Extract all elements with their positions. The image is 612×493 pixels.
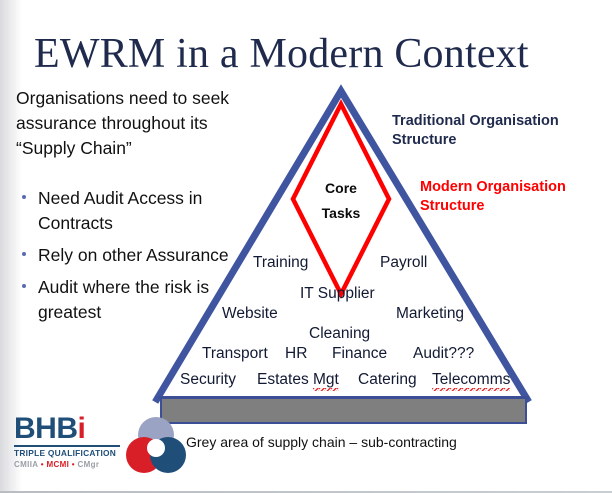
bhbi-logo: BHBi TRIPLE QUALIFICATION CMIIA • MCMI •… bbox=[14, 412, 194, 478]
legend-modern-structure: Modern Organisation Structure bbox=[420, 178, 610, 216]
diagram-label-hr: HR bbox=[285, 345, 307, 363]
diagram-label-transport: Transport bbox=[202, 345, 268, 363]
lead-paragraph: Organisations need to seek assurance thr… bbox=[16, 86, 244, 161]
bullet-dot-icon bbox=[22, 252, 26, 256]
qual-separator-2: • bbox=[72, 460, 75, 469]
diagram-label-training: Training bbox=[253, 254, 308, 272]
list-item: Audit where the risk is greatest bbox=[16, 275, 252, 325]
venn-center-hole bbox=[147, 439, 165, 457]
diagram-label-finance: Finance bbox=[332, 345, 387, 363]
diagram-label-security: Security bbox=[180, 371, 236, 389]
list-item-label: Need Audit Access in Contracts bbox=[38, 188, 202, 233]
bhbi-logo-divider bbox=[14, 445, 120, 447]
core-tasks-line-1: Core bbox=[307, 176, 375, 201]
list-item: Rely on other Assurance bbox=[16, 243, 252, 268]
slide-canvas: EWRM in a Modern Context Organisations n… bbox=[0, 0, 612, 493]
qual-cmiia: CMIIA bbox=[14, 460, 38, 469]
list-item-label: Audit where the risk is greatest bbox=[38, 277, 209, 322]
bullet-dot-icon bbox=[22, 284, 26, 288]
bhbi-logo-text: BHBi TRIPLE QUALIFICATION CMIIA • MCMI •… bbox=[14, 414, 120, 470]
diagram-label-estates: Estates bbox=[257, 371, 309, 389]
diagram-label-catering: Catering bbox=[358, 371, 417, 389]
bhbi-tagline: TRIPLE QUALIFICATION bbox=[14, 448, 120, 458]
bullet-list: Need Audit Access in Contracts Rely on o… bbox=[16, 186, 252, 332]
qual-mcmi: MCMI bbox=[46, 460, 69, 469]
grey-area-bar bbox=[160, 399, 527, 424]
bhbi-wordmark-main: BHB bbox=[14, 412, 78, 445]
bhbi-qualifications: CMIIA • MCMI • CMgr bbox=[14, 460, 120, 470]
diagram-label-payroll: Payroll bbox=[380, 254, 427, 272]
qual-separator-1: • bbox=[41, 460, 44, 469]
core-tasks-line-2: Tasks bbox=[307, 201, 375, 226]
diagram-label-website: Website bbox=[222, 305, 278, 323]
bhbi-wordmark-i: i bbox=[78, 412, 86, 445]
qual-cmgr: CMgr bbox=[77, 460, 99, 469]
diagram-label-audit: Audit??? bbox=[413, 345, 474, 363]
diagram-label-mgt: Mgt bbox=[313, 371, 339, 391]
bhbi-wordmark: BHBi bbox=[14, 414, 120, 444]
grey-area-caption: Grey area of supply chain – sub-contract… bbox=[186, 434, 457, 450]
list-item: Need Audit Access in Contracts bbox=[16, 186, 252, 236]
diagram-label-telecomms: Telecomms bbox=[432, 371, 510, 391]
diagram-label-cleaning: Cleaning bbox=[309, 325, 370, 343]
bhbi-venn-icon bbox=[120, 416, 192, 474]
page-title: EWRM in a Modern Context bbox=[34, 30, 529, 78]
diagram-label-it-supplier: IT Supplier bbox=[300, 285, 375, 303]
list-item-label: Rely on other Assurance bbox=[38, 245, 229, 265]
diagram-label-marketing: Marketing bbox=[396, 305, 464, 323]
bullet-dot-icon bbox=[22, 195, 26, 199]
legend-traditional-structure: Traditional Organisation Structure bbox=[392, 112, 604, 150]
core-tasks-label: Core Tasks bbox=[307, 176, 375, 226]
